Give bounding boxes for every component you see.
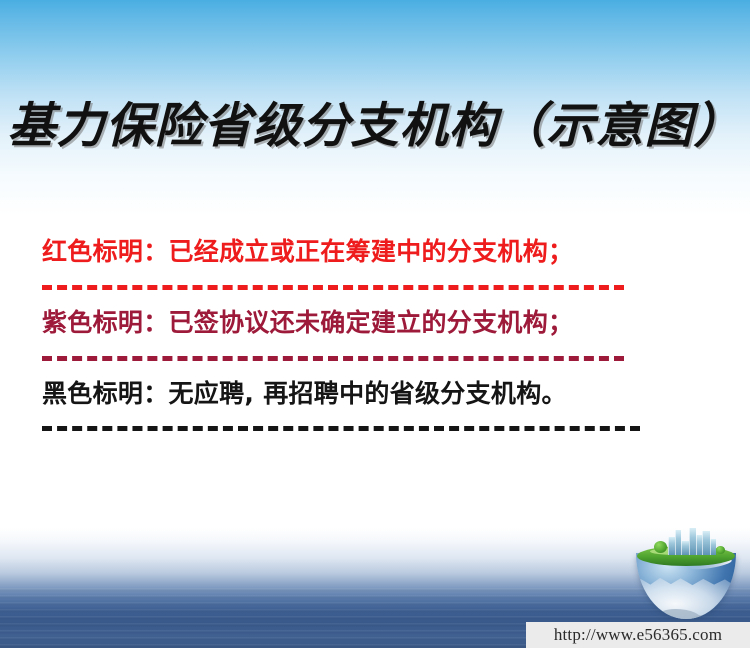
legend-spacer-1 [42,290,642,307]
building-7 [710,539,716,555]
legend-divider-black [42,426,640,431]
legend-row-purple: 紫色标明：已签协议还未确定建立的分支机构； [42,307,642,339]
tree-icon-right [716,546,725,554]
globe-ice-cap [636,575,736,619]
watermark-bar: http://www.e56365.com [526,622,750,648]
page-title: 基力保险省级分支机构（示意图） [0,98,750,156]
building-3 [681,541,689,555]
building-4 [689,528,696,555]
legend-row-red: 红色标明：已经成立或正在筹建中的分支机构； [42,236,642,268]
legend-spacer-2 [42,361,642,378]
legend-row-black: 黑色标明：无应聘, 再招聘中的省级分支机构。 [42,378,642,410]
city-skyline-icon [668,527,716,555]
building-1 [668,537,675,555]
watermark-url: http://www.e56365.com [554,625,722,645]
globe-logo-icon [630,527,742,627]
tree-icon-left [654,541,667,553]
globe-landmass-secondary [690,615,712,619]
building-6 [702,531,710,555]
slide-canvas: 基力保险省级分支机构（示意图） 红色标明：已经成立或正在筹建中的分支机构； 紫色… [0,0,750,648]
legend-block: 红色标明：已经成立或正在筹建中的分支机构； 紫色标明：已签协议还未确定建立的分支… [42,236,642,431]
